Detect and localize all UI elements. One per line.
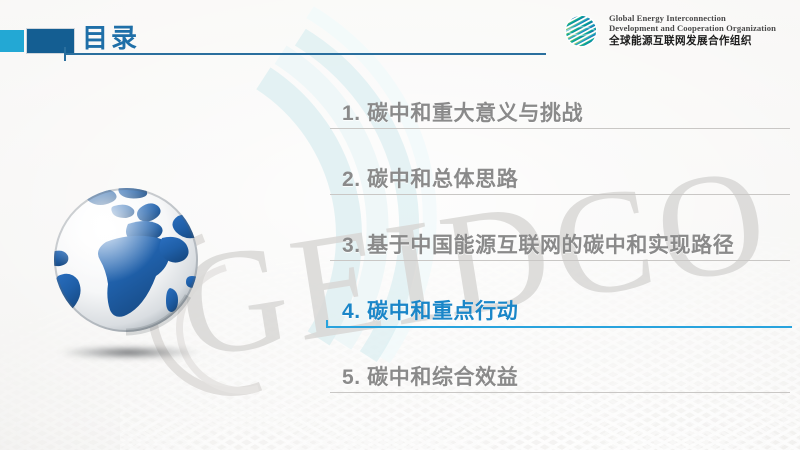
menu-item-2[interactable]: 2. 碳中和总体思路 <box>330 158 792 224</box>
menu-item-4-rule <box>326 326 792 328</box>
logo-text-block: Global Energy Interconnection Developmen… <box>609 14 776 47</box>
page-title: 目录 <box>82 18 140 55</box>
logo-english-line2: Development and Cooperation Organization <box>609 24 776 34</box>
logo-chinese-name: 全球能源互联网发展合作组织 <box>609 36 776 48</box>
menu-item-5-rule <box>330 392 790 393</box>
header-rule <box>66 53 546 55</box>
globe-shadow <box>58 346 200 359</box>
menu-item-1[interactable]: 1. 碳中和重大意义与挑战 <box>330 92 792 158</box>
organization-logo: Global Energy Interconnection Developmen… <box>562 12 776 50</box>
menu-item-5[interactable]: 5. 碳中和综合效益 <box>330 356 792 422</box>
header-accent-square-dark <box>27 29 74 53</box>
menu-item-1-label: 1. 碳中和重大意义与挑战 <box>342 97 583 127</box>
menu-item-3[interactable]: 3. 基于中国能源互联网的碳中和实现路径 <box>330 224 792 290</box>
contents-menu: 1. 碳中和重大意义与挑战 2. 碳中和总体思路 3. 基于中国能源互联网的碳中… <box>330 92 792 422</box>
world-globe-icon <box>44 180 209 345</box>
menu-item-3-rule <box>330 260 790 261</box>
menu-item-1-rule <box>330 128 790 129</box>
header-accent-square-light <box>0 30 24 52</box>
menu-item-4-label: 4. 碳中和重点行动 <box>342 295 518 325</box>
menu-item-4[interactable]: 4. 碳中和重点行动 <box>330 290 792 356</box>
menu-item-5-label: 5. 碳中和综合效益 <box>342 361 518 391</box>
menu-item-3-label: 3. 基于中国能源互联网的碳中和实现路径 <box>342 229 734 259</box>
geidco-globe-logo-icon <box>562 12 600 50</box>
presentation-slide: GEIDCO 目录 <box>0 0 800 450</box>
menu-item-2-label: 2. 碳中和总体思路 <box>342 163 518 193</box>
menu-item-2-rule <box>330 194 790 195</box>
globe-illustration <box>36 180 221 380</box>
